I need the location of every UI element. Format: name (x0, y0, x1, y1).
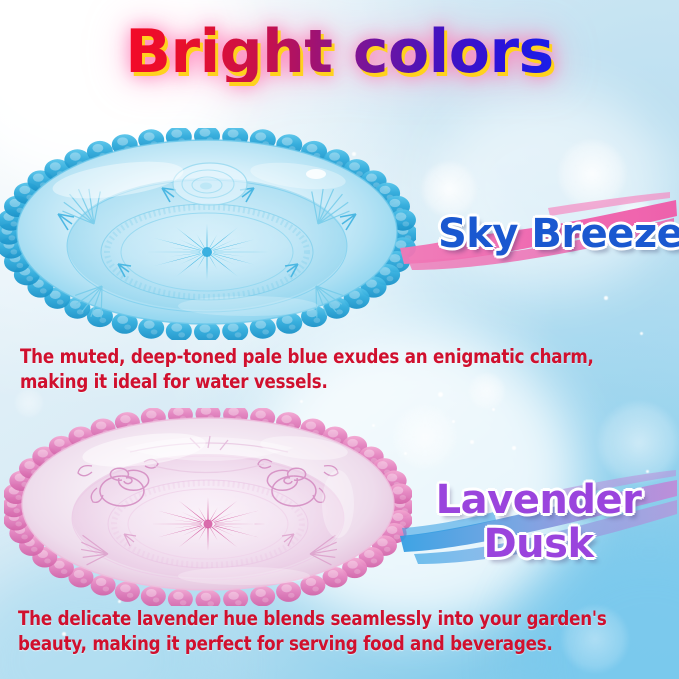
description-line: beauty, making it perfect for serving fo… (18, 631, 626, 656)
description-line: The muted, deep-toned pale blue exudes a… (20, 344, 613, 369)
description-line: making it ideal for water vessels. (20, 369, 613, 394)
page-title: Bright colors (0, 22, 679, 82)
lavender-dusk-label-block: Lavender Dusk (398, 462, 679, 580)
lavender-dusk-description: The delicate lavender hue blends seamles… (18, 606, 626, 657)
product-infographic: Bright colors (0, 0, 679, 679)
pink-glass-bowl (4, 408, 412, 606)
blue-glass-bowl (0, 128, 416, 340)
page-title-text: Bright colors (125, 22, 554, 82)
sky-breeze-label-block: Sky Breeze (398, 186, 679, 282)
description-line: The delicate lavender hue blends seamles… (18, 606, 626, 631)
center-knob (173, 163, 247, 205)
lavender-dusk-label-line-2: Dusk (398, 524, 679, 564)
sky-breeze-label: Sky Breeze (438, 214, 679, 254)
sky-breeze-description: The muted, deep-toned pale blue exudes a… (20, 344, 613, 395)
lavender-dusk-label-line-1: Lavender (398, 480, 679, 520)
